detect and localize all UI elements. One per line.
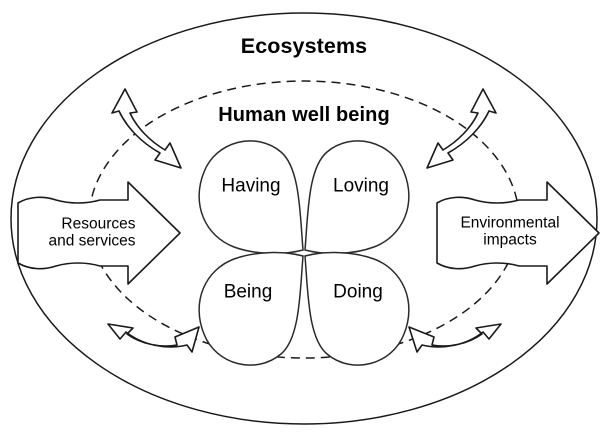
flow-label-resources: Resourcesand services bbox=[48, 216, 135, 251]
petal-label-doing: Doing bbox=[333, 281, 383, 302]
double-arrow-top-left bbox=[112, 89, 181, 168]
petal-label-having: Having bbox=[221, 175, 280, 196]
petal-label-being: Being bbox=[224, 281, 273, 302]
flow-label-resources-line2: and services bbox=[48, 233, 135, 250]
double-arrow-bottom-left bbox=[108, 324, 199, 352]
double-arrow-bottom-right bbox=[409, 324, 501, 352]
flow-label-environmental-line1: Environmental bbox=[460, 215, 559, 232]
inner-title: Human well being bbox=[218, 104, 390, 126]
petal-loving bbox=[305, 141, 409, 254]
flow-label-environmental: Environmentalimpacts bbox=[460, 215, 559, 250]
double-arrow-top-right bbox=[427, 89, 496, 168]
petal-having bbox=[199, 141, 303, 254]
petal-doing bbox=[305, 253, 409, 366]
diagram-canvas: Ecosystems Human well being Having Lovin… bbox=[0, 0, 608, 436]
petal-being bbox=[199, 253, 303, 366]
flow-label-resources-line1: Resources bbox=[61, 216, 135, 233]
petal-label-loving: Loving bbox=[333, 175, 389, 196]
flow-label-environmental-line2: impacts bbox=[483, 232, 536, 249]
page-title: Ecosystems bbox=[241, 34, 368, 58]
